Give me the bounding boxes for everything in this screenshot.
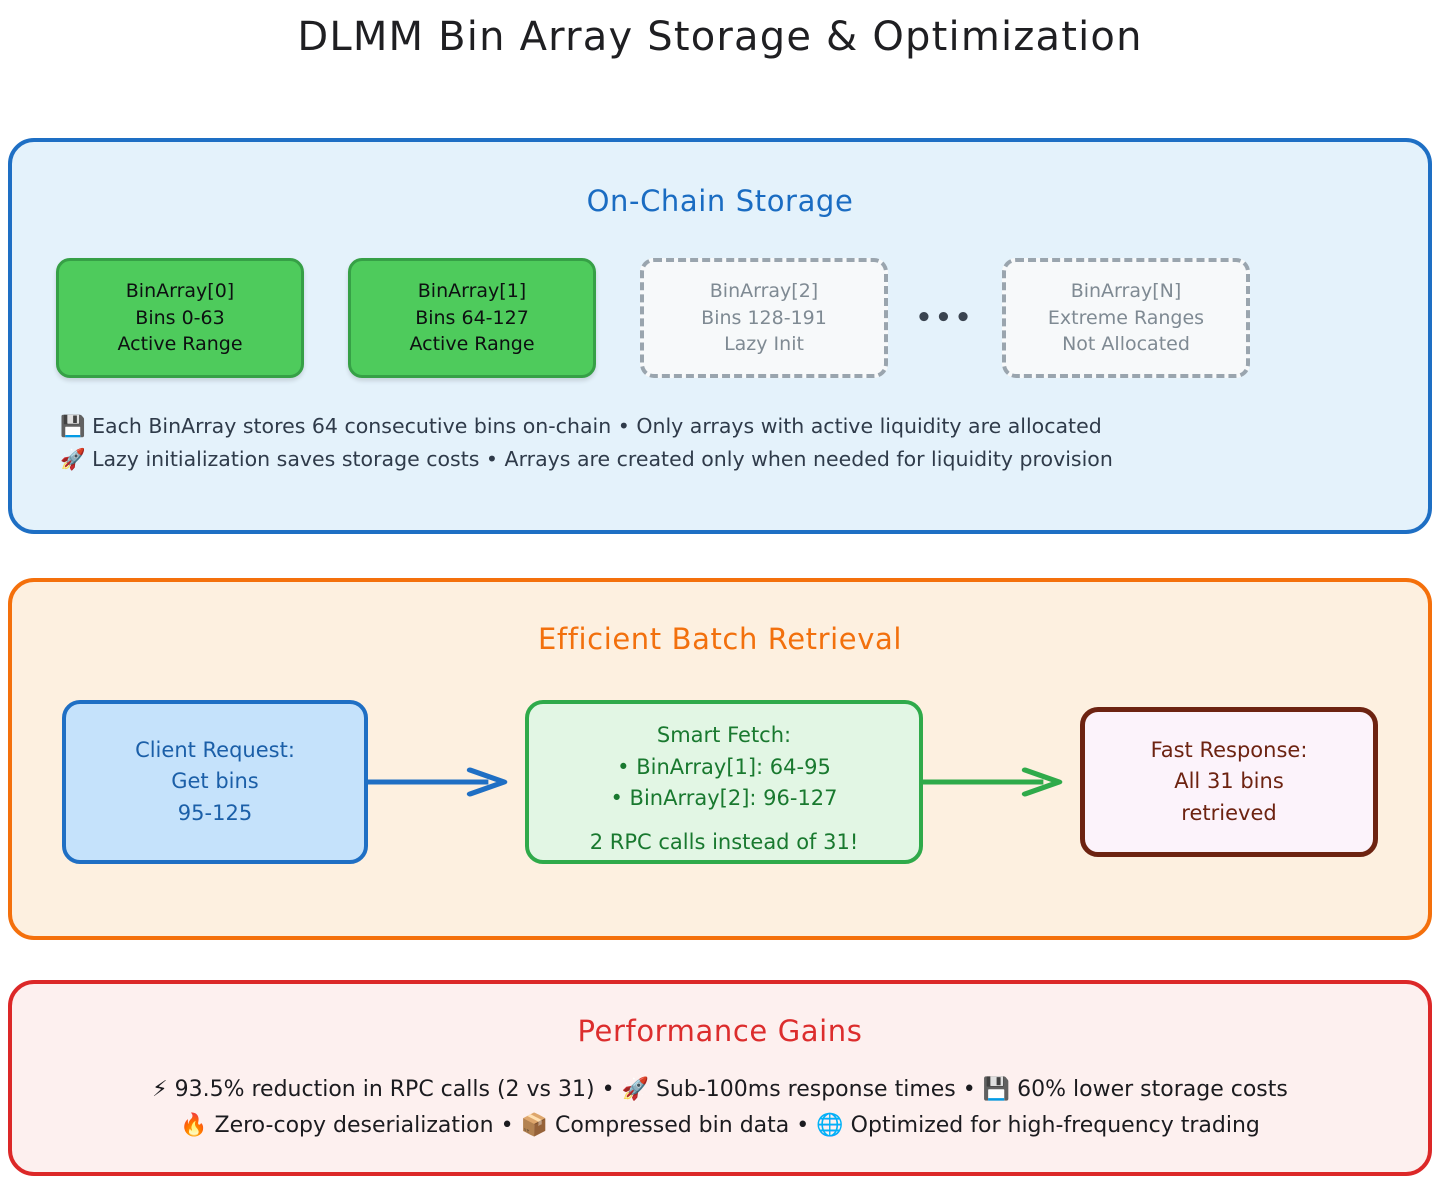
page-title: DLMM Bin Array Storage & Optimization bbox=[0, 14, 1440, 60]
rocket-icon: 🚀 bbox=[622, 1077, 649, 1102]
separator: • bbox=[501, 1113, 514, 1138]
section-title-batch: Efficient Batch Retrieval bbox=[12, 622, 1428, 656]
lightning-bolt-icon: ⚡ bbox=[152, 1077, 167, 1102]
client-request-box: Client Request: Get bins 95-125 bbox=[62, 700, 368, 864]
storage-note-2: 🚀 Lazy initialization saves storage cost… bbox=[60, 443, 1380, 476]
bin-array-2-line1: BinArray[2] bbox=[710, 278, 818, 305]
bin-array-0-line3: Active Range bbox=[117, 331, 242, 358]
separator: • bbox=[796, 1113, 809, 1138]
bin-array-2-line2: Bins 128-191 bbox=[701, 305, 827, 332]
performance-lines: ⚡ 93.5% reduction in RPC calls (2 vs 31)… bbox=[12, 1072, 1428, 1143]
section-efficient-batch-retrieval: Efficient Batch Retrieval Client Request… bbox=[8, 578, 1432, 940]
performance-item-2-text: Sub-100ms response times bbox=[656, 1077, 956, 1102]
arrow-client-to-fetch bbox=[368, 765, 525, 799]
performance-line-1: ⚡ 93.5% reduction in RPC calls (2 vs 31)… bbox=[12, 1072, 1428, 1108]
storage-note-1: 💾 Each BinArray stores 64 consecutive bi… bbox=[60, 410, 1380, 443]
performance-line-2: 🔥 Zero-copy deserialization • 📦 Compress… bbox=[12, 1108, 1428, 1144]
floppy-disk-icon: 💾 bbox=[60, 414, 86, 438]
smart-fetch-bullet-1: • BinArray[1]: 64-95 bbox=[617, 752, 831, 784]
bin-array-0-line1: BinArray[0] bbox=[126, 278, 234, 305]
bin-array-box-2: BinArray[2] Bins 128-191 Lazy Init bbox=[640, 258, 888, 378]
separator: • bbox=[602, 1077, 615, 1102]
bin-array-n-line2: Extreme Ranges bbox=[1048, 305, 1204, 332]
fire-icon: 🔥 bbox=[180, 1113, 207, 1138]
fast-response-box: Fast Response: All 31 bins retrieved bbox=[1080, 707, 1378, 857]
bin-array-n-line1: BinArray[N] bbox=[1071, 278, 1182, 305]
bin-array-1-line3: Active Range bbox=[409, 331, 534, 358]
floppy-disk-icon: 💾 bbox=[983, 1077, 1010, 1102]
client-request-line1: Client Request: bbox=[135, 735, 295, 767]
bin-array-2-line3: Lazy Init bbox=[724, 331, 804, 358]
ellipsis-indicator: ••• bbox=[888, 305, 1002, 331]
performance-item-5-text: Compressed bin data bbox=[555, 1113, 789, 1138]
bin-array-row: BinArray[0] Bins 0-63 Active Range BinAr… bbox=[12, 258, 1428, 378]
rocket-icon: 🚀 bbox=[60, 447, 86, 471]
bin-array-box-n: BinArray[N] Extreme Ranges Not Allocated bbox=[1002, 258, 1250, 378]
section-title-storage: On-Chain Storage bbox=[12, 184, 1428, 218]
bin-array-0-line2: Bins 0-63 bbox=[135, 305, 224, 332]
storage-note-1-text: Each BinArray stores 64 consecutive bins… bbox=[92, 414, 1102, 438]
fast-response-line1: Fast Response: bbox=[1151, 735, 1308, 767]
smart-fetch-box: Smart Fetch: • BinArray[1]: 64-95 • BinA… bbox=[525, 700, 923, 864]
storage-notes: 💾 Each BinArray stores 64 consecutive bi… bbox=[12, 410, 1428, 476]
section-on-chain-storage: On-Chain Storage BinArray[0] Bins 0-63 A… bbox=[8, 138, 1432, 534]
smart-fetch-footer: 2 RPC calls instead of 31! bbox=[590, 827, 859, 859]
globe-icon: 🌐 bbox=[816, 1113, 843, 1138]
package-icon: 📦 bbox=[521, 1113, 548, 1138]
performance-item-6-text: Optimized for high-frequency trading bbox=[851, 1113, 1260, 1138]
smart-fetch-bullet-2: • BinArray[2]: 96-127 bbox=[610, 783, 837, 815]
bin-array-box-0: BinArray[0] Bins 0-63 Active Range bbox=[56, 258, 304, 378]
section-performance-gains: Performance Gains ⚡ 93.5% reduction in R… bbox=[8, 980, 1432, 1176]
client-request-line2: Get bins bbox=[171, 766, 259, 798]
bin-array-1-line1: BinArray[1] bbox=[418, 278, 526, 305]
section-title-performance: Performance Gains bbox=[12, 1014, 1428, 1048]
client-request-line3: 95-125 bbox=[178, 798, 252, 830]
bin-array-1-line2: Bins 64-127 bbox=[415, 305, 529, 332]
bin-array-box-1: BinArray[1] Bins 64-127 Active Range bbox=[348, 258, 596, 378]
diagram-canvas: DLMM Bin Array Storage & Optimization On… bbox=[0, 0, 1440, 1200]
storage-note-2-text: Lazy initialization saves storage costs … bbox=[92, 447, 1113, 471]
performance-item-3-text: 60% lower storage costs bbox=[1017, 1077, 1288, 1102]
smart-fetch-heading: Smart Fetch: bbox=[657, 720, 791, 752]
separator: • bbox=[963, 1077, 976, 1102]
fast-response-line2: All 31 bins bbox=[1174, 766, 1284, 798]
performance-item-1-text: 93.5% reduction in RPC calls (2 vs 31) bbox=[175, 1077, 595, 1102]
bin-array-n-line3: Not Allocated bbox=[1062, 331, 1190, 358]
arrow-fetch-to-response bbox=[923, 765, 1080, 799]
performance-item-4-text: Zero-copy deserialization bbox=[215, 1113, 494, 1138]
fast-response-line3: retrieved bbox=[1181, 798, 1276, 830]
batch-flow-row: Client Request: Get bins 95-125 Smart Fe… bbox=[12, 700, 1428, 864]
